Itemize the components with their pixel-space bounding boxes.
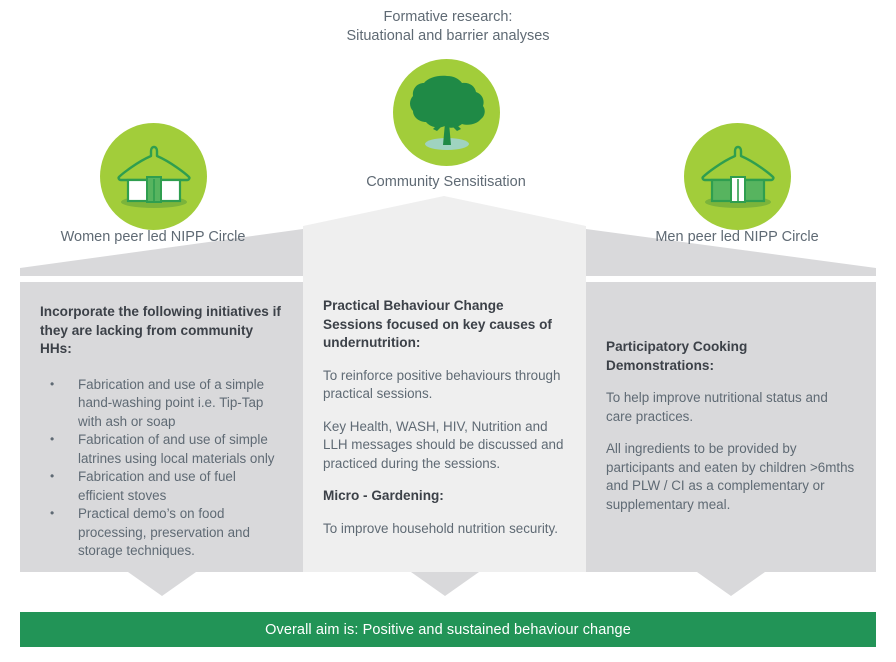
panel-mid-heading-1: Practical Behaviour Change Sessions focu…: [323, 297, 566, 353]
panel-behaviour-change: Practical Behaviour Change Sessions focu…: [303, 276, 586, 572]
chevron-center-peak: [303, 196, 586, 276]
panel-women-initiatives: Incorporate the following initiatives if…: [20, 282, 303, 572]
panel-mid-paragraph-2: Key Health, WASH, HIV, Nutrition and LLH…: [323, 418, 566, 474]
panel-left-bullet-list: Fabrication and use of a simple hand-was…: [40, 376, 283, 561]
panel-cooking-demos: Participatory Cooking Demonstrations: To…: [586, 282, 876, 572]
women-circle-badge: [100, 123, 207, 230]
formative-research-line-2: Situational and barrier analyses: [298, 27, 598, 46]
overall-aim-banner: Overall aim is: Positive and sustained b…: [20, 612, 876, 647]
panel-mid-paragraph-3: To improve household nutrition security.: [323, 520, 566, 539]
panel-mid-heading-2: Micro - Gardening:: [323, 487, 566, 506]
infographic-canvas: Formative research: Situational and barr…: [0, 0, 896, 662]
list-item: Fabrication and use of fuel efficient st…: [40, 468, 283, 505]
panel-right-paragraph-2: All ingredients to be provided by partic…: [606, 440, 856, 514]
community-circle-caption: Community Sensitisation: [346, 173, 546, 192]
men-circle-badge: [684, 123, 791, 230]
overall-aim-text: Overall aim is: Positive and sustained b…: [265, 622, 631, 638]
down-arrow-icon: [411, 572, 479, 596]
men-circle-caption: Men peer led NIPP Circle: [637, 228, 837, 247]
down-arrow-icon: [128, 572, 196, 596]
panel-right-heading: Participatory Cooking Demonstrations:: [606, 338, 856, 375]
down-arrow-icon: [697, 572, 765, 596]
women-circle-caption: Women peer led NIPP Circle: [53, 228, 253, 247]
hut-icon: [700, 144, 776, 210]
panel-mid-paragraph-1: To reinforce positive behaviours through…: [323, 367, 566, 404]
tree-icon: [405, 73, 489, 153]
panel-right-paragraph-1: To help improve nutritional status and c…: [606, 389, 856, 426]
panel-left-heading: Incorporate the following initiatives if…: [40, 303, 283, 359]
community-circle-badge: [393, 59, 500, 166]
list-item: Practical demo’s on food processing, pre…: [40, 505, 283, 561]
list-item: Fabrication of and use of simple latrine…: [40, 431, 283, 468]
hut-icon: [116, 144, 192, 210]
list-item: Fabrication and use of a simple hand-was…: [40, 376, 283, 432]
formative-research-line-1: Formative research:: [298, 8, 598, 27]
formative-research-heading: Formative research: Situational and barr…: [298, 8, 598, 46]
